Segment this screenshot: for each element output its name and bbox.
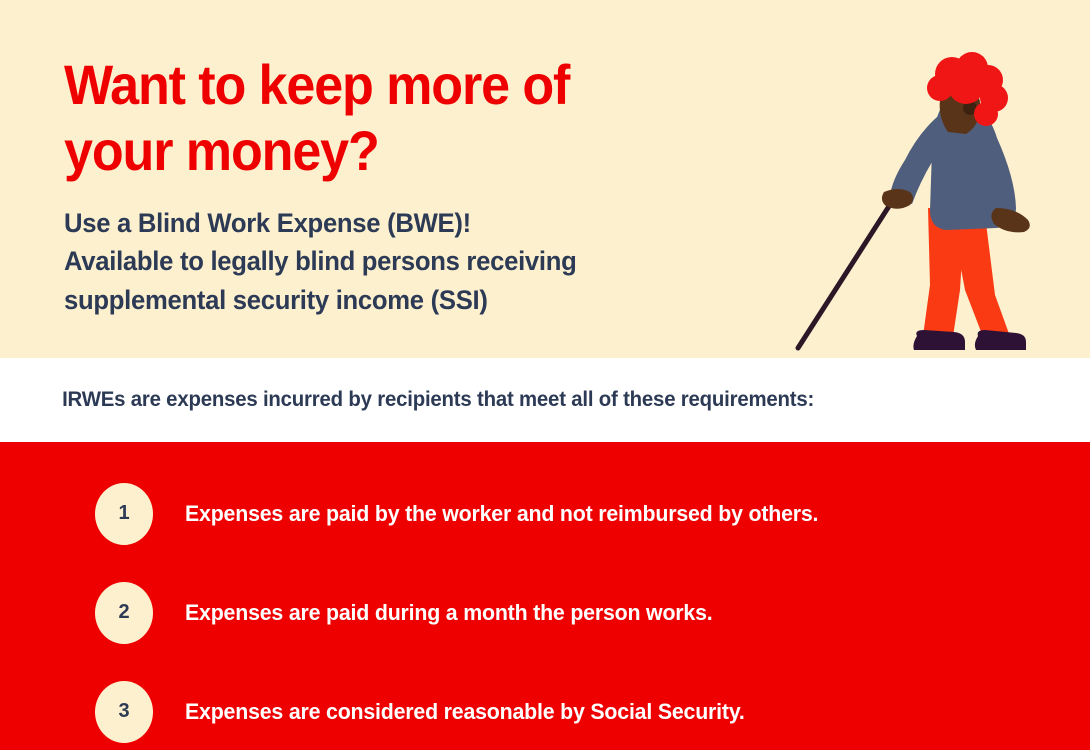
list-item-number-badge: 1	[95, 483, 153, 545]
shoe-front	[913, 330, 965, 350]
list-item: 3 Expenses are considered reasonable by …	[0, 662, 1090, 750]
requirements-section: 1 Expenses are paid by the worker and no…	[0, 442, 1090, 750]
hero-section: Want to keep more of your money? Use a B…	[0, 0, 1090, 358]
intro-section: IRWEs are expenses incurred by recipient…	[0, 358, 1090, 442]
hand-on-cane	[882, 189, 913, 209]
list-item-number-badge: 3	[95, 681, 153, 743]
list-item: 2 Expenses are paid during a month the p…	[0, 563, 1090, 662]
hero-subtitle: Use a Blind Work Expense (BWE)! Availabl…	[64, 204, 729, 319]
list-item: 1 Expenses are paid by the worker and no…	[0, 464, 1090, 563]
requirements-intro-text: IRWEs are expenses incurred by recipient…	[0, 388, 814, 412]
white-cane-icon	[798, 200, 893, 348]
shoe-back	[975, 330, 1026, 350]
hero-text-block: Want to keep more of your money? Use a B…	[64, 52, 764, 319]
list-item-label: Expenses are paid by the worker and not …	[185, 501, 818, 527]
walking-person-illustration	[780, 40, 1080, 358]
person-with-cane-icon	[780, 40, 1080, 358]
list-item-number-badge: 2	[95, 582, 153, 644]
list-item-label: Expenses are considered reasonable by So…	[185, 699, 745, 725]
requirements-list: 1 Expenses are paid by the worker and no…	[0, 464, 1090, 750]
page-title: Want to keep more of your money?	[64, 52, 715, 184]
list-item-label: Expenses are paid during a month the per…	[185, 600, 712, 626]
infographic-poster: Want to keep more of your money? Use a B…	[0, 0, 1090, 750]
hand-right	[991, 208, 1029, 232]
